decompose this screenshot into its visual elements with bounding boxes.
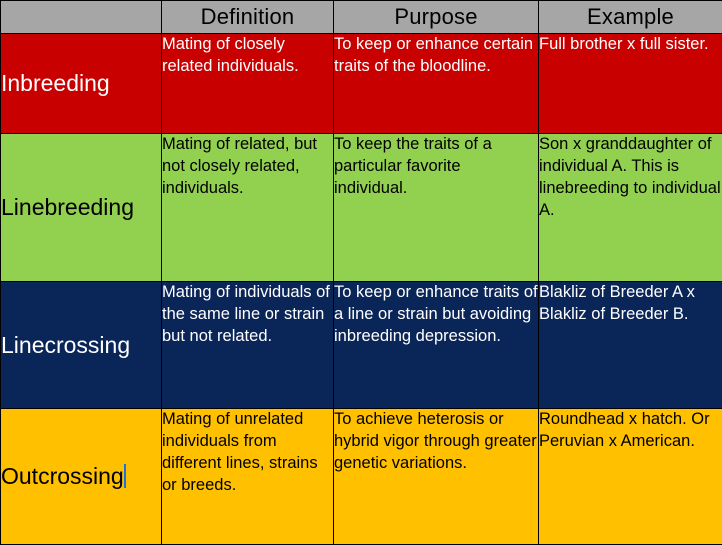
- text-cursor-caret: [124, 464, 126, 488]
- column-header-purpose: Purpose: [334, 1, 539, 34]
- cell-outcrossing-example[interactable]: Roundhead x hatch. Or Peruvian x America…: [539, 409, 722, 545]
- cell-linecrossing-definition[interactable]: Mating of individuals of the same line o…: [162, 282, 334, 409]
- cell-outcrossing-purpose[interactable]: To achieve heterosis or hybrid vigor thr…: [334, 409, 539, 545]
- row-label-inbreeding[interactable]: Inbreeding: [1, 34, 162, 134]
- cell-linebreeding-example[interactable]: Son x granddaughter of individual A. Thi…: [539, 134, 722, 282]
- cell-inbreeding-definition[interactable]: Mating of closely related individuals.: [162, 34, 334, 134]
- breeding-methods-table: Definition Purpose Example Inbreeding Ma…: [0, 0, 722, 545]
- row-label-text: Linecrossing: [1, 332, 130, 358]
- cell-linebreeding-definition[interactable]: Mating of related, but not closely relat…: [162, 134, 334, 282]
- row-label-linebreeding[interactable]: Linebreeding: [1, 134, 162, 282]
- column-header-example: Example: [539, 1, 722, 34]
- table-row: Linebreeding Mating of related, but not …: [1, 134, 722, 282]
- row-label-text: Outcrossing: [1, 463, 124, 489]
- cell-outcrossing-definition[interactable]: Mating of unrelated individuals from dif…: [162, 409, 334, 545]
- cell-linebreeding-purpose[interactable]: To keep the traits of a particular favor…: [334, 134, 539, 282]
- table-row: Linecrossing Mating of individuals of th…: [1, 282, 722, 409]
- cell-linecrossing-purpose[interactable]: To keep or enhance traits of a line or s…: [334, 282, 539, 409]
- table-row: Inbreeding Mating of closely related ind…: [1, 34, 722, 134]
- cell-inbreeding-example[interactable]: Full brother x full sister.: [539, 34, 722, 134]
- row-label-outcrossing[interactable]: Outcrossing: [1, 409, 162, 545]
- row-label-text: Inbreeding: [1, 70, 110, 96]
- table-row: Outcrossing Mating of unrelated individu…: [1, 409, 722, 545]
- cell-linecrossing-example[interactable]: Blakliz of Breeder A x Blakliz of Breede…: [539, 282, 722, 409]
- cell-inbreeding-purpose[interactable]: To keep or enhance certain traits of the…: [334, 34, 539, 134]
- column-header-definition: Definition: [162, 1, 334, 34]
- header-corner-cell: [1, 1, 162, 34]
- table-header-row: Definition Purpose Example: [1, 1, 722, 34]
- row-label-linecrossing[interactable]: Linecrossing: [1, 282, 162, 409]
- row-label-text: Linebreeding: [1, 194, 134, 220]
